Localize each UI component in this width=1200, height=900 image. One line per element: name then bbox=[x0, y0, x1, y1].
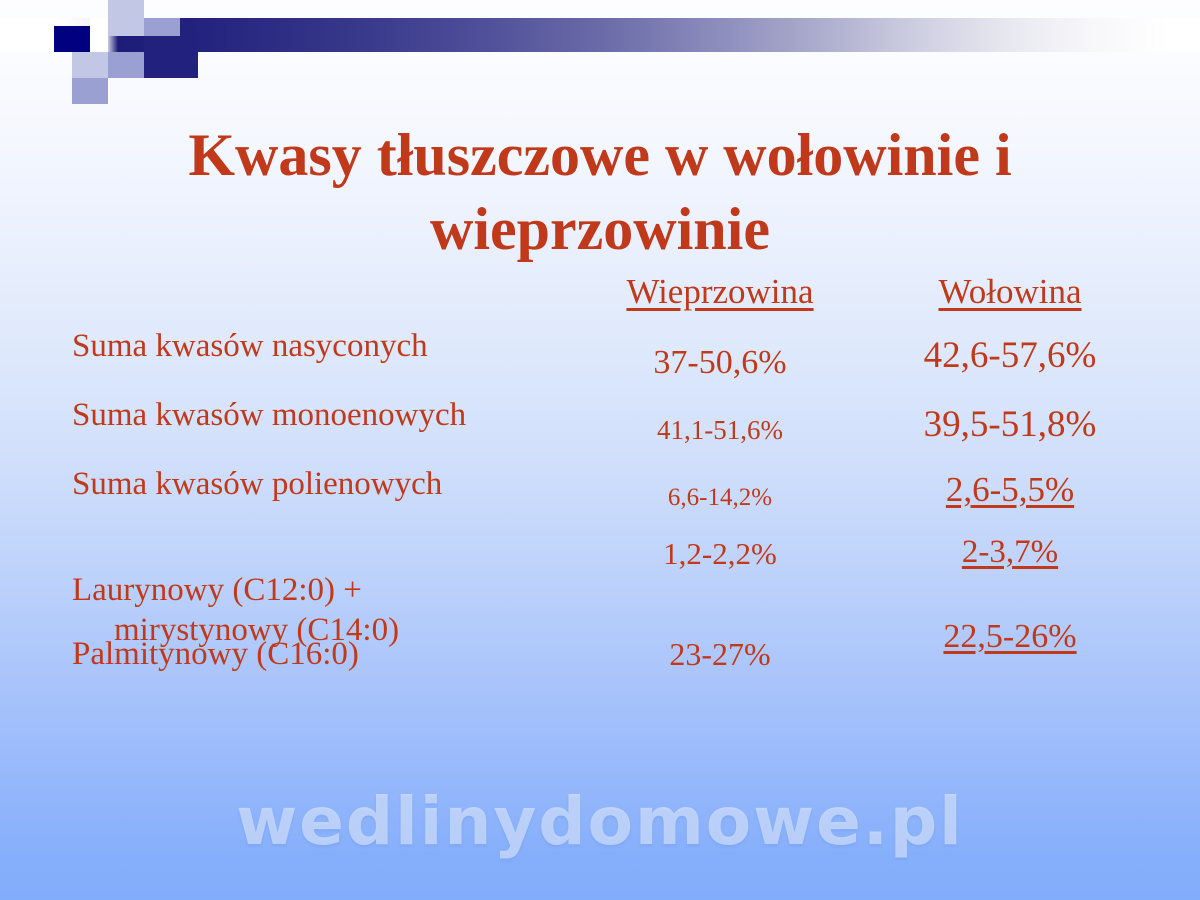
row-label-saturated: Suma kwasów nasyconych bbox=[72, 326, 572, 366]
mosaic-tile-periwinkle-2 bbox=[108, 52, 144, 78]
row-label-monoenoic: Suma kwasów monoenowych bbox=[72, 395, 572, 435]
column-header-wolowina: Wołowina bbox=[870, 272, 1150, 312]
value-polyenoic-beef: 2,6-5,5% bbox=[870, 470, 1150, 510]
slide: Kwasy tłuszczowe w wołowinie i wieprzowi… bbox=[0, 0, 1200, 900]
mosaic-tile-lavender-1 bbox=[108, 0, 144, 18]
value-lauric-myristic-pork: 1,2-2,2% bbox=[560, 536, 880, 572]
value-palmitic-beef: 22,5-26% bbox=[870, 618, 1150, 656]
page-title: Kwasy tłuszczowe w wołowinie i wieprzowi… bbox=[60, 118, 1140, 266]
value-monoenoic-beef: 39,5-51,8% bbox=[870, 403, 1150, 446]
column-header-wieprzowina: Wieprzowina bbox=[560, 272, 880, 312]
value-lauric-myristic-beef: 2-3,7% bbox=[870, 534, 1150, 571]
value-saturated-pork: 37-50,6% bbox=[560, 344, 880, 382]
mosaic-tile-periwinkle-3 bbox=[72, 78, 108, 104]
mosaic-tile-lavender-3 bbox=[72, 52, 108, 78]
value-palmitic-pork: 23-27% bbox=[560, 636, 880, 673]
mosaic-tile-lavender-2 bbox=[108, 18, 144, 36]
row-label-polyenoic: Suma kwasów polienowych bbox=[72, 464, 572, 504]
mosaic-tile-navy-block bbox=[144, 36, 198, 78]
mosaic-tile-navy-small bbox=[54, 26, 90, 52]
value-polyenoic-pork: 6,6-14,2% bbox=[560, 484, 880, 512]
row-label-palmitic: Palmitynowy (C16:0) bbox=[72, 634, 572, 674]
value-saturated-beef: 42,6-57,6% bbox=[870, 334, 1150, 377]
value-monoenoic-pork: 41,1-51,6% bbox=[560, 415, 880, 446]
mosaic-tile-white-gap-1 bbox=[90, 18, 108, 52]
row-label-lauric-myristic-line1: Laurynowy (C12:0) + bbox=[72, 572, 362, 608]
watermark: wedlinydomowe.pl bbox=[0, 783, 1200, 860]
mosaic-tile-periwinkle-1 bbox=[144, 18, 180, 36]
